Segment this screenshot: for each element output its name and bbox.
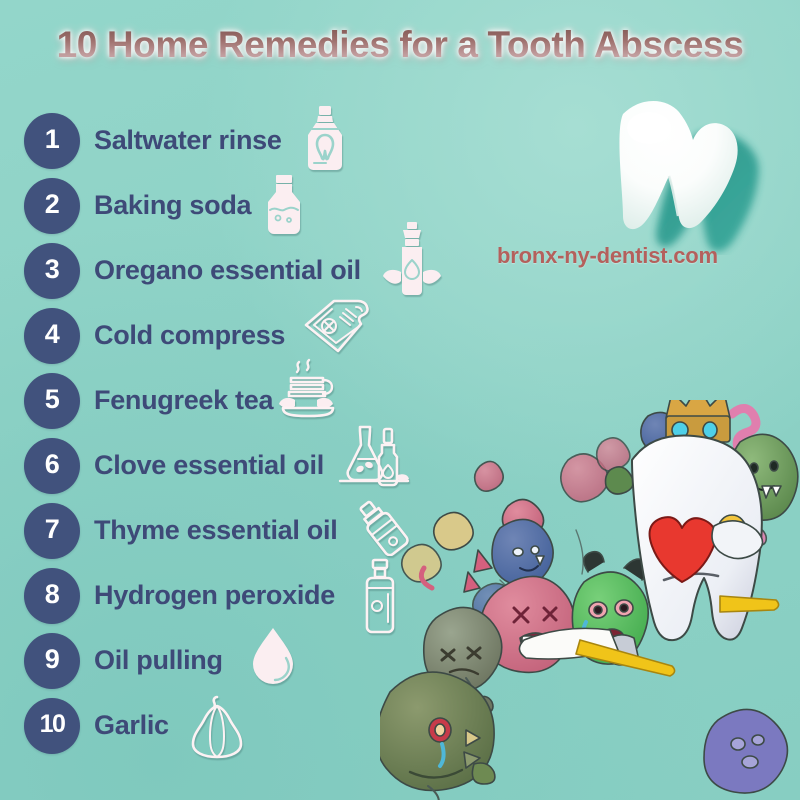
remedy-number: 8 [45, 581, 60, 610]
remedy-number: 2 [45, 191, 60, 220]
remedy-number: 4 [45, 321, 60, 350]
remedy-number: 7 [45, 516, 60, 545]
list-item[interactable]: 7 Thyme essential oil [0, 498, 520, 563]
remedy-label: Fenugreek tea [94, 385, 273, 416]
remedy-label: Cold compress [94, 320, 285, 351]
remedy-label: Saltwater rinse [94, 125, 282, 156]
list-item[interactable]: 1 Saltwater rinse [0, 108, 520, 173]
remedy-label: Oregano essential oil [94, 255, 361, 286]
remedy-label: Garlic [94, 710, 169, 741]
remedy-number: 6 [45, 451, 60, 480]
list-item[interactable]: 5 Fenugreek tea [0, 368, 520, 433]
remedy-label: Thyme essential oil [94, 515, 337, 546]
remedy-number-badge: 7 [24, 503, 80, 559]
remedy-number: 9 [45, 646, 60, 675]
watermark-url: bronx-ny-dentist.com [497, 243, 718, 269]
list-item[interactable]: 8 Hydrogen peroxide [0, 563, 520, 628]
remedy-number-badge: 9 [24, 633, 80, 689]
remedy-number-badge: 5 [24, 373, 80, 429]
remedy-label: Baking soda [94, 190, 251, 221]
remedy-label: Hydrogen peroxide [94, 580, 335, 611]
page-title-container: 10 Home Remedies for a Tooth Abscess [0, 24, 800, 66]
remedy-label: Oil pulling [94, 645, 223, 676]
infographic-canvas: 10 Home Remedies for a Tooth Abscess bro… [0, 0, 800, 800]
list-item[interactable]: 6 Clove essential oil [0, 433, 520, 498]
list-item[interactable]: 9 Oil pulling [0, 628, 520, 693]
list-item[interactable]: 2 Baking soda [0, 173, 520, 238]
remedy-number-badge: 4 [24, 308, 80, 364]
remedy-number-badge: 1 [24, 113, 80, 169]
list-item[interactable]: 3 Oregano essential oil [0, 238, 520, 303]
remedy-number: 10 [40, 712, 65, 739]
remedy-number-badge: 2 [24, 178, 80, 234]
page-title: 10 Home Remedies for a Tooth Abscess [57, 24, 744, 66]
hero-tooth-illustration [545, 80, 775, 255]
remedy-list: 1 Saltwater rinse 2 Baking soda 3 Oregan… [0, 108, 520, 758]
remedy-number-badge: 8 [24, 568, 80, 624]
remedy-number: 3 [45, 256, 60, 285]
remedy-number: 5 [45, 386, 60, 415]
remedy-label: Clove essential oil [94, 450, 324, 481]
remedy-number-badge: 6 [24, 438, 80, 494]
list-item[interactable]: 4 Cold compress [0, 303, 520, 368]
remedy-number: 1 [45, 126, 60, 155]
list-item[interactable]: 10 Garlic [0, 693, 520, 758]
remedy-number-badge: 10 [24, 698, 80, 754]
remedy-number-badge: 3 [24, 243, 80, 299]
